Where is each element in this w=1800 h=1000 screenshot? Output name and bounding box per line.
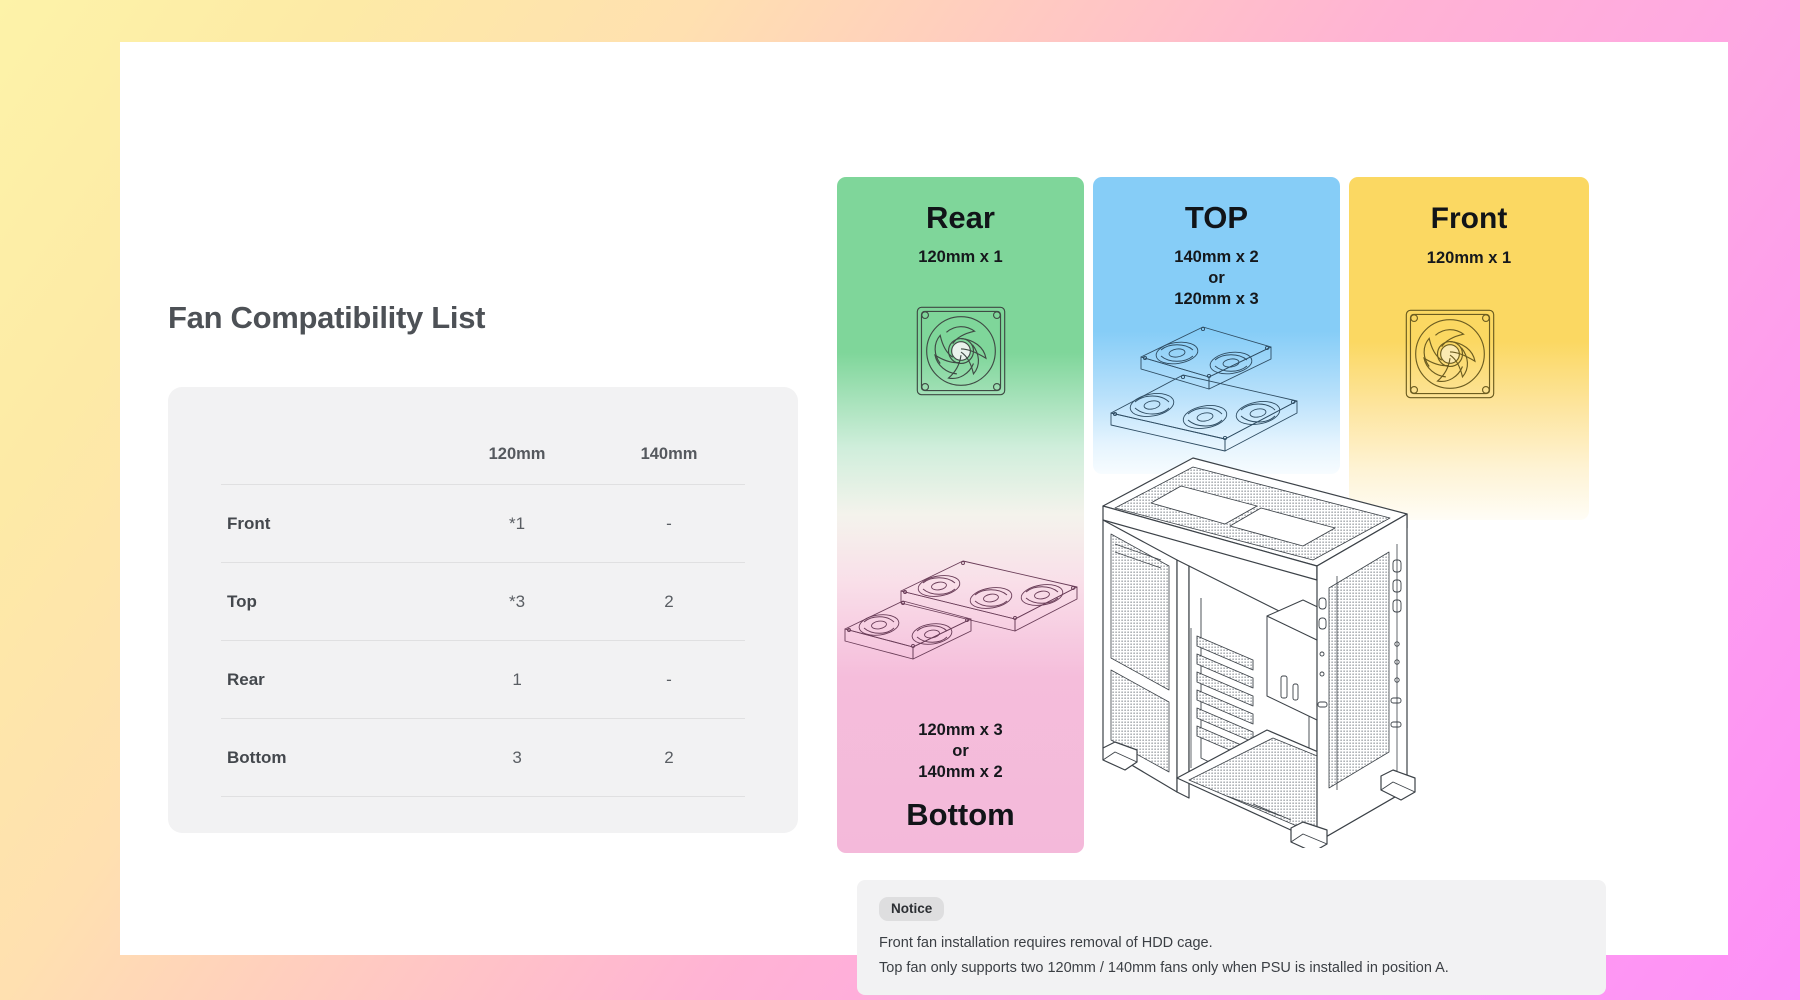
row-label-rear: Rear [221, 641, 441, 719]
cell-front-140mm: - [593, 485, 745, 563]
compatibility-table-card: 120mm 140mm Front *1 - Top *3 2 [168, 387, 798, 833]
cell-top-120mm: *3 [441, 563, 593, 641]
notice-badge: Notice [879, 897, 944, 921]
notice-line-2: Top fan only supports two 120mm / 140mm … [879, 956, 1584, 981]
panel-spec-rear: 120mm x 1 [837, 247, 1084, 268]
bottom-fan-arrays-illustration [843, 559, 1083, 669]
page-title: Fan Compatibility List [168, 300, 798, 336]
table-header-row: 120mm 140mm [221, 445, 745, 485]
cell-rear-120mm: 1 [441, 641, 593, 719]
panel-heading-bottom: Bottom [837, 797, 1084, 833]
fan-compatibility-table: 120mm 140mm Front *1 - Top *3 2 [221, 445, 745, 797]
table-body: Front *1 - Top *3 2 Rear 1 - [221, 485, 745, 797]
cell-bottom-120mm: 3 [441, 719, 593, 797]
front-fan-illustration [1398, 302, 1502, 406]
table-header: 120mm 140mm [221, 445, 745, 485]
panel-heading-front: Front [1349, 202, 1589, 236]
column-header-140mm: 140mm [593, 445, 745, 485]
row-label-bottom: Bottom [221, 719, 441, 797]
table-row: Top *3 2 [221, 563, 745, 641]
column-header-location [221, 445, 441, 485]
cell-bottom-140mm: 2 [593, 719, 745, 797]
column-header-120mm: 120mm [441, 445, 593, 485]
panel-rear-bottom: Rear 120mm x 1 120mm x 3 or 140mm x 2 Bo… [837, 177, 1084, 853]
page-card: Fan Compatibility List 120mm 140mm [120, 42, 1728, 955]
fan-placement-diagram: Rear 120mm x 1 120mm x 3 or 140mm x 2 Bo… [837, 177, 1682, 937]
notice-line-1: Front fan installation requires removal … [879, 931, 1584, 956]
panel-heading-top: TOP [1093, 200, 1340, 236]
table-row: Front *1 - [221, 485, 745, 563]
panel-bottom-text-block: 120mm x 3 or 140mm x 2 Bottom [837, 720, 1084, 833]
cell-top-140mm: 2 [593, 563, 745, 641]
rear-fan-illustration [909, 299, 1013, 403]
table-row: Rear 1 - [221, 641, 745, 719]
fan-compatibility-section: Fan Compatibility List 120mm 140mm [168, 300, 798, 833]
panel-spec-top: 140mm x 2 or 120mm x 3 [1093, 247, 1340, 310]
cell-front-120mm: *1 [441, 485, 593, 563]
pc-case-illustration [1085, 448, 1425, 848]
panel-group: Rear 120mm x 1 120mm x 3 or 140mm x 2 Bo… [837, 177, 1682, 853]
cell-rear-140mm: - [593, 641, 745, 719]
panel-spec-bottom: 120mm x 3 or 140mm x 2 [837, 720, 1084, 783]
row-label-front: Front [221, 485, 441, 563]
top-fan-arrays-illustration [1105, 325, 1335, 453]
table-row: Bottom 3 2 [221, 719, 745, 797]
row-label-top: Top [221, 563, 441, 641]
panel-heading-rear: Rear [837, 200, 1084, 236]
panel-spec-front: 120mm x 1 [1349, 248, 1589, 269]
notice-box: Notice Front fan installation requires r… [857, 880, 1606, 995]
